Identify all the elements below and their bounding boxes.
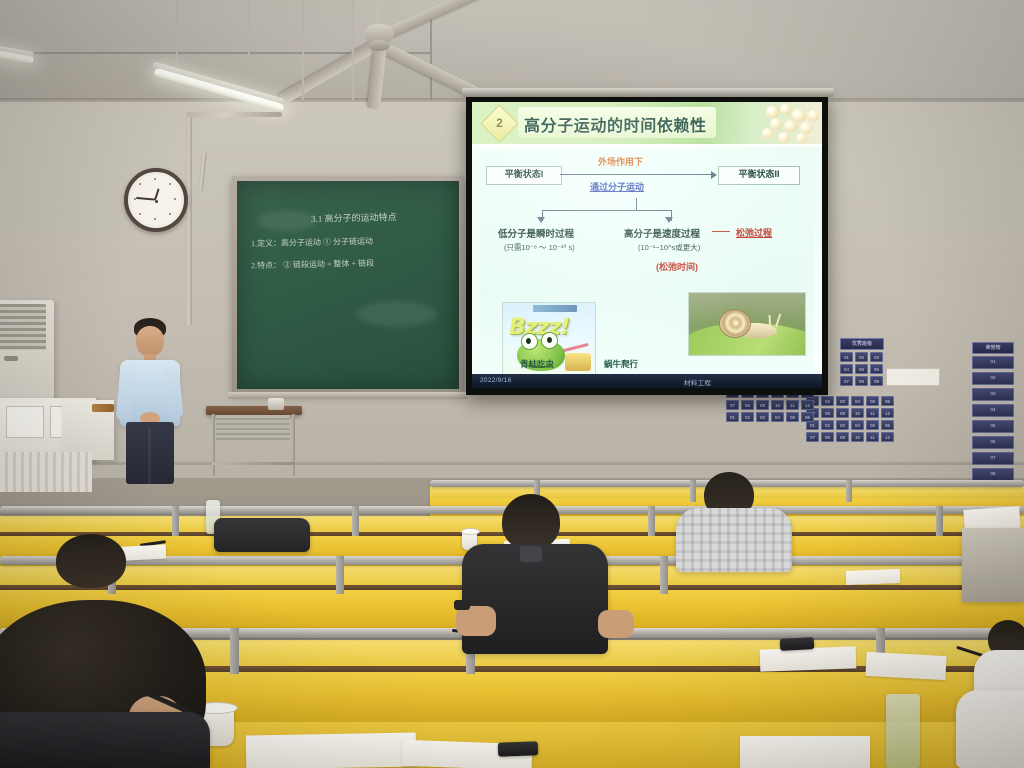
fan-hub [368, 40, 390, 51]
paper-sheet[interactable] [740, 736, 870, 768]
slide-footer-date: 2022/9/16 [480, 377, 512, 384]
plaque-tag: 09 [836, 408, 849, 418]
rail-post [936, 506, 943, 536]
frog-sound-text: Bzzz! [509, 315, 569, 340]
rail-post [846, 480, 852, 502]
flow-arrow [560, 174, 712, 175]
plaque-tag: 03 [836, 396, 849, 406]
wall-conduit [186, 112, 282, 117]
laptop-bag[interactable] [214, 518, 310, 552]
snail-shell [719, 309, 751, 338]
plaque-tag: 10 [771, 400, 784, 410]
plaque-row: 06 [972, 436, 1014, 449]
plaque-header: 优秀班级 [840, 338, 884, 350]
attendee-torso [0, 712, 210, 768]
attendee-torso [956, 690, 1024, 768]
plaque-tag: 11 [866, 408, 879, 418]
slide-title: 高分子运动的时间依赖性 [524, 112, 707, 136]
plaque-header-right: 荣誉榜 [972, 342, 1014, 354]
attendee-head [56, 534, 126, 588]
plaque-tag: 11 [786, 400, 799, 410]
plaque-tag: 04 [851, 396, 864, 406]
branch-right-main: 高分子是速度过程 [624, 226, 700, 240]
plaque-row: 03 [972, 388, 1014, 401]
light-suspension-rod [248, 0, 250, 56]
trouser-crease [148, 428, 151, 484]
polo-collar [520, 546, 542, 562]
plaque-tag: 05 [855, 364, 868, 374]
wall-clock [124, 168, 188, 232]
caption-frog: 青蛙吃虫 [520, 358, 554, 370]
branch-right-sub: (10⁻¹~10^s或更大) [638, 242, 700, 253]
paper-sheet[interactable] [760, 646, 857, 671]
desk-leg [292, 414, 295, 476]
plaque-tag: 12 [881, 408, 894, 418]
blackboard-heading: 3.1 高分子的运动特点 [311, 210, 397, 225]
attendee-arm [456, 606, 496, 636]
attendee-torso [676, 508, 792, 572]
branch-left-main: 低分子是瞬时过程 [498, 226, 574, 240]
classroom-photo: 3.1 高分子的运动特点 1.定义：高分子运动 ① 分子链运动 2.特点： ② … [0, 0, 1024, 768]
branch-arrow-right [665, 217, 673, 223]
plaque-tag: 09 [836, 432, 849, 442]
plaque-tag: 07 [726, 400, 739, 410]
floor-radiator [0, 452, 92, 492]
frog-banner [533, 305, 577, 312]
plaque-grid-main: 01 02 03 04 05 06 07 08 09 10 11 12 01 0… [806, 396, 894, 442]
paper-sheet[interactable] [865, 652, 946, 680]
plaque-tag: 06 [881, 420, 894, 430]
slide-header-underline [472, 144, 822, 147]
projected-slide: 2 高分子运动的时间依赖性 平衡状态I 平衡状态II 外场作用下 通过分子运动 … [472, 102, 822, 388]
snail-antenna [769, 315, 771, 327]
rail-post [230, 628, 239, 674]
slide-footer-right: 材料工程 [684, 377, 711, 387]
side-cabinet [962, 528, 1024, 602]
rail-post [352, 506, 359, 536]
plaque-tag: 10 [851, 408, 864, 418]
plaque-tag: 03 [870, 352, 883, 362]
plaque-tag: 08 [741, 400, 754, 410]
plaque-tag: 06 [801, 412, 814, 422]
plaque-tag: 09 [870, 376, 883, 386]
plaque-tag: 02 [741, 412, 754, 422]
frog-eye [541, 332, 558, 349]
caption-snail: 蜗牛爬行 [604, 358, 638, 370]
plaque-tag: 03 [836, 420, 849, 430]
attendee-head [502, 494, 560, 550]
paper-sheet[interactable] [246, 733, 417, 768]
plaque-tag: 06 [881, 396, 894, 406]
rail-post [660, 556, 668, 594]
rail-post [172, 506, 179, 536]
frog-badge [565, 353, 591, 371]
blackboard: 3.1 高分子的运动特点 1.定义：高分子运动 ① 分子链运动 2.特点： ② … [237, 181, 459, 389]
wall-note [886, 368, 940, 386]
rail-post [648, 506, 655, 536]
slide-footer: 2022/9/16 材料工程 [472, 374, 822, 388]
flow-arrow-head [711, 171, 717, 179]
smartphone[interactable] [498, 741, 538, 756]
plaque-row: 05 [972, 420, 1014, 433]
chalk-tray [228, 392, 468, 399]
projector-screen-roller [462, 88, 834, 97]
plaque-row: 04 [972, 404, 1014, 417]
rail-post [690, 480, 696, 502]
presenter-head [136, 326, 164, 356]
flow-box-right: 平衡状态II [718, 166, 800, 185]
frog-eye [521, 333, 538, 350]
fan-rod [376, 0, 381, 26]
branch-left-sub: (只需10⁻⁸ ～ 10⁻¹⁰ s) [504, 242, 575, 253]
blackboard-frame: 3.1 高分子的运动特点 1.定义：高分子运动 ① 分子链运动 2.特点： ② … [232, 176, 464, 394]
plaque-tag: 12 [881, 432, 894, 442]
plaque-tag: 01 [726, 412, 739, 422]
bracket-stem [636, 198, 637, 210]
blackboard-line: 2.特点： ② 链段运动 + 整体 + 链段 [251, 258, 374, 272]
blackboard-line: 1.定义：高分子运动 ① 分子链运动 [251, 236, 373, 250]
branch-right-highlight: 松弛过程 [736, 226, 772, 239]
clock-minute-hand [136, 197, 155, 200]
plaque-tag: 04 [840, 364, 853, 374]
plaque-tag: 06 [870, 364, 883, 374]
popcorn-decoration [756, 102, 822, 144]
plaque-tag: 02 [855, 352, 868, 362]
branch-bracket [542, 210, 672, 221]
teacher-desk-top [206, 406, 302, 415]
plaque-tag: 01 [840, 352, 853, 362]
plaque-tag: 04 [771, 412, 784, 422]
wood-trim [92, 404, 114, 412]
slide-badge-number: 2 [487, 111, 512, 136]
plaque-row: 02 [972, 372, 1014, 385]
cup-rim [461, 528, 480, 535]
plaque-tag: 08 [821, 408, 834, 418]
branch-right-dash: —— [712, 226, 730, 236]
plaque-tag: 10 [851, 432, 864, 442]
smartphone[interactable] [780, 637, 815, 651]
plaque-tag: 03 [756, 412, 769, 422]
paper-sheet[interactable] [846, 569, 900, 585]
wall-conduit [186, 112, 192, 326]
slide-body: 平衡状态I 平衡状态II 外场作用下 通过分子运动 低分子是瞬时过程 (只需10… [480, 152, 814, 380]
plaque-rack-right: 01 02 03 04 05 06 07 08 [972, 356, 1014, 481]
ac-vent [0, 304, 46, 350]
plaque-tag: 07 [840, 376, 853, 386]
plaque-tag: 07 [806, 432, 819, 442]
light-suspension-rod [302, 0, 304, 100]
clock-center [155, 200, 158, 203]
water-bottle[interactable] [886, 694, 920, 768]
plaque-tag: 08 [855, 376, 868, 386]
snail-photo [688, 292, 806, 356]
ceiling-seam [430, 8, 432, 104]
teacher-desk-panel [216, 415, 290, 441]
plaque-tag: 05 [866, 420, 879, 430]
plaque-tag: 04 [851, 420, 864, 430]
plaque-tag: 08 [821, 432, 834, 442]
plaque-tag: 05 [866, 396, 879, 406]
flow-box-left: 平衡状态I [486, 166, 562, 185]
desk-crossbar [212, 462, 294, 465]
plaque-row: 07 [972, 452, 1014, 465]
plaque-tag: 12 [801, 400, 814, 410]
arrow-label-top: 外场作用下 [598, 155, 643, 168]
cabinet-door[interactable] [6, 406, 44, 438]
light-suspension-rod [352, 0, 354, 100]
rail-post [336, 556, 344, 594]
plaque-tag: 05 [786, 412, 799, 422]
attendee-arm [598, 610, 634, 638]
plaque-tag: 02 [821, 396, 834, 406]
plaque-tag: 11 [866, 432, 879, 442]
clock-face [131, 175, 181, 225]
plaque-tag: 02 [821, 420, 834, 430]
branch-right-note: (松弛时间) [656, 260, 698, 273]
ac-label [4, 356, 18, 361]
remote-control[interactable] [268, 398, 284, 410]
plaque-row: 01 [972, 356, 1014, 369]
wristwatch [454, 600, 470, 610]
desk-leg [212, 414, 215, 476]
branch-arrow-left [537, 217, 545, 223]
plaque-grid-upper: 01 02 03 04 05 06 07 08 09 [840, 352, 883, 386]
arrow-label-bottom: 通过分子运动 [590, 180, 644, 193]
plaque-tag: 09 [756, 400, 769, 410]
